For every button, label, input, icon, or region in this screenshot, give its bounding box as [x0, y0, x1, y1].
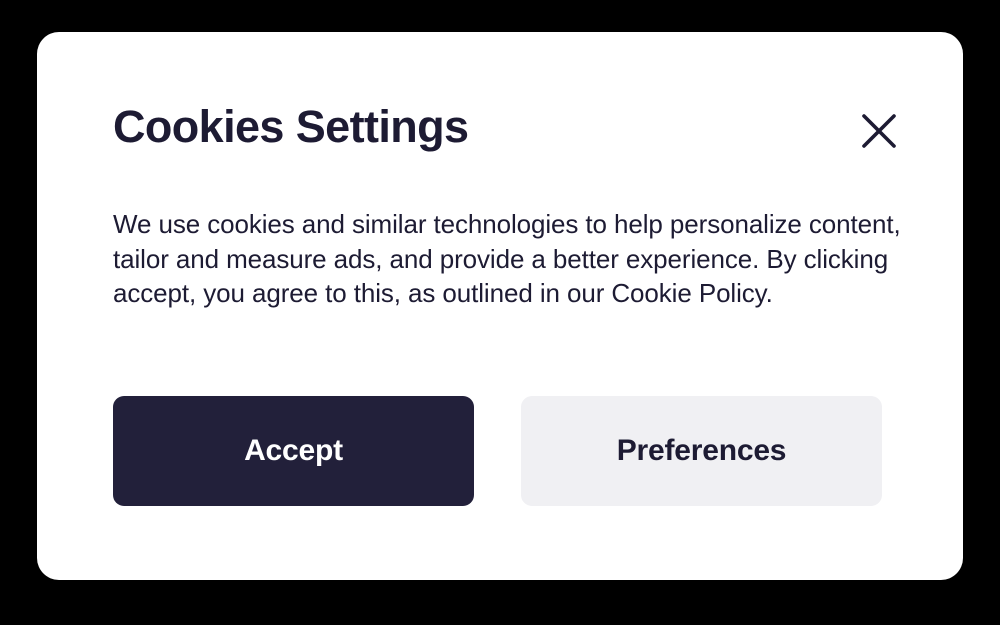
screen-backdrop: Cookies Settings We use cookies and simi…: [0, 0, 1000, 625]
accept-button[interactable]: Accept: [113, 396, 474, 506]
dialog-actions: Accept Preferences: [113, 396, 882, 506]
dialog-header: Cookies Settings: [113, 104, 923, 200]
close-x-icon: [860, 112, 898, 150]
preferences-button[interactable]: Preferences: [521, 396, 882, 506]
page-title: Cookies Settings: [113, 104, 468, 149]
close-button[interactable]: [856, 108, 902, 154]
cookies-settings-dialog: Cookies Settings We use cookies and simi…: [37, 32, 963, 580]
dialog-description: We use cookies and similar technologies …: [113, 207, 903, 311]
